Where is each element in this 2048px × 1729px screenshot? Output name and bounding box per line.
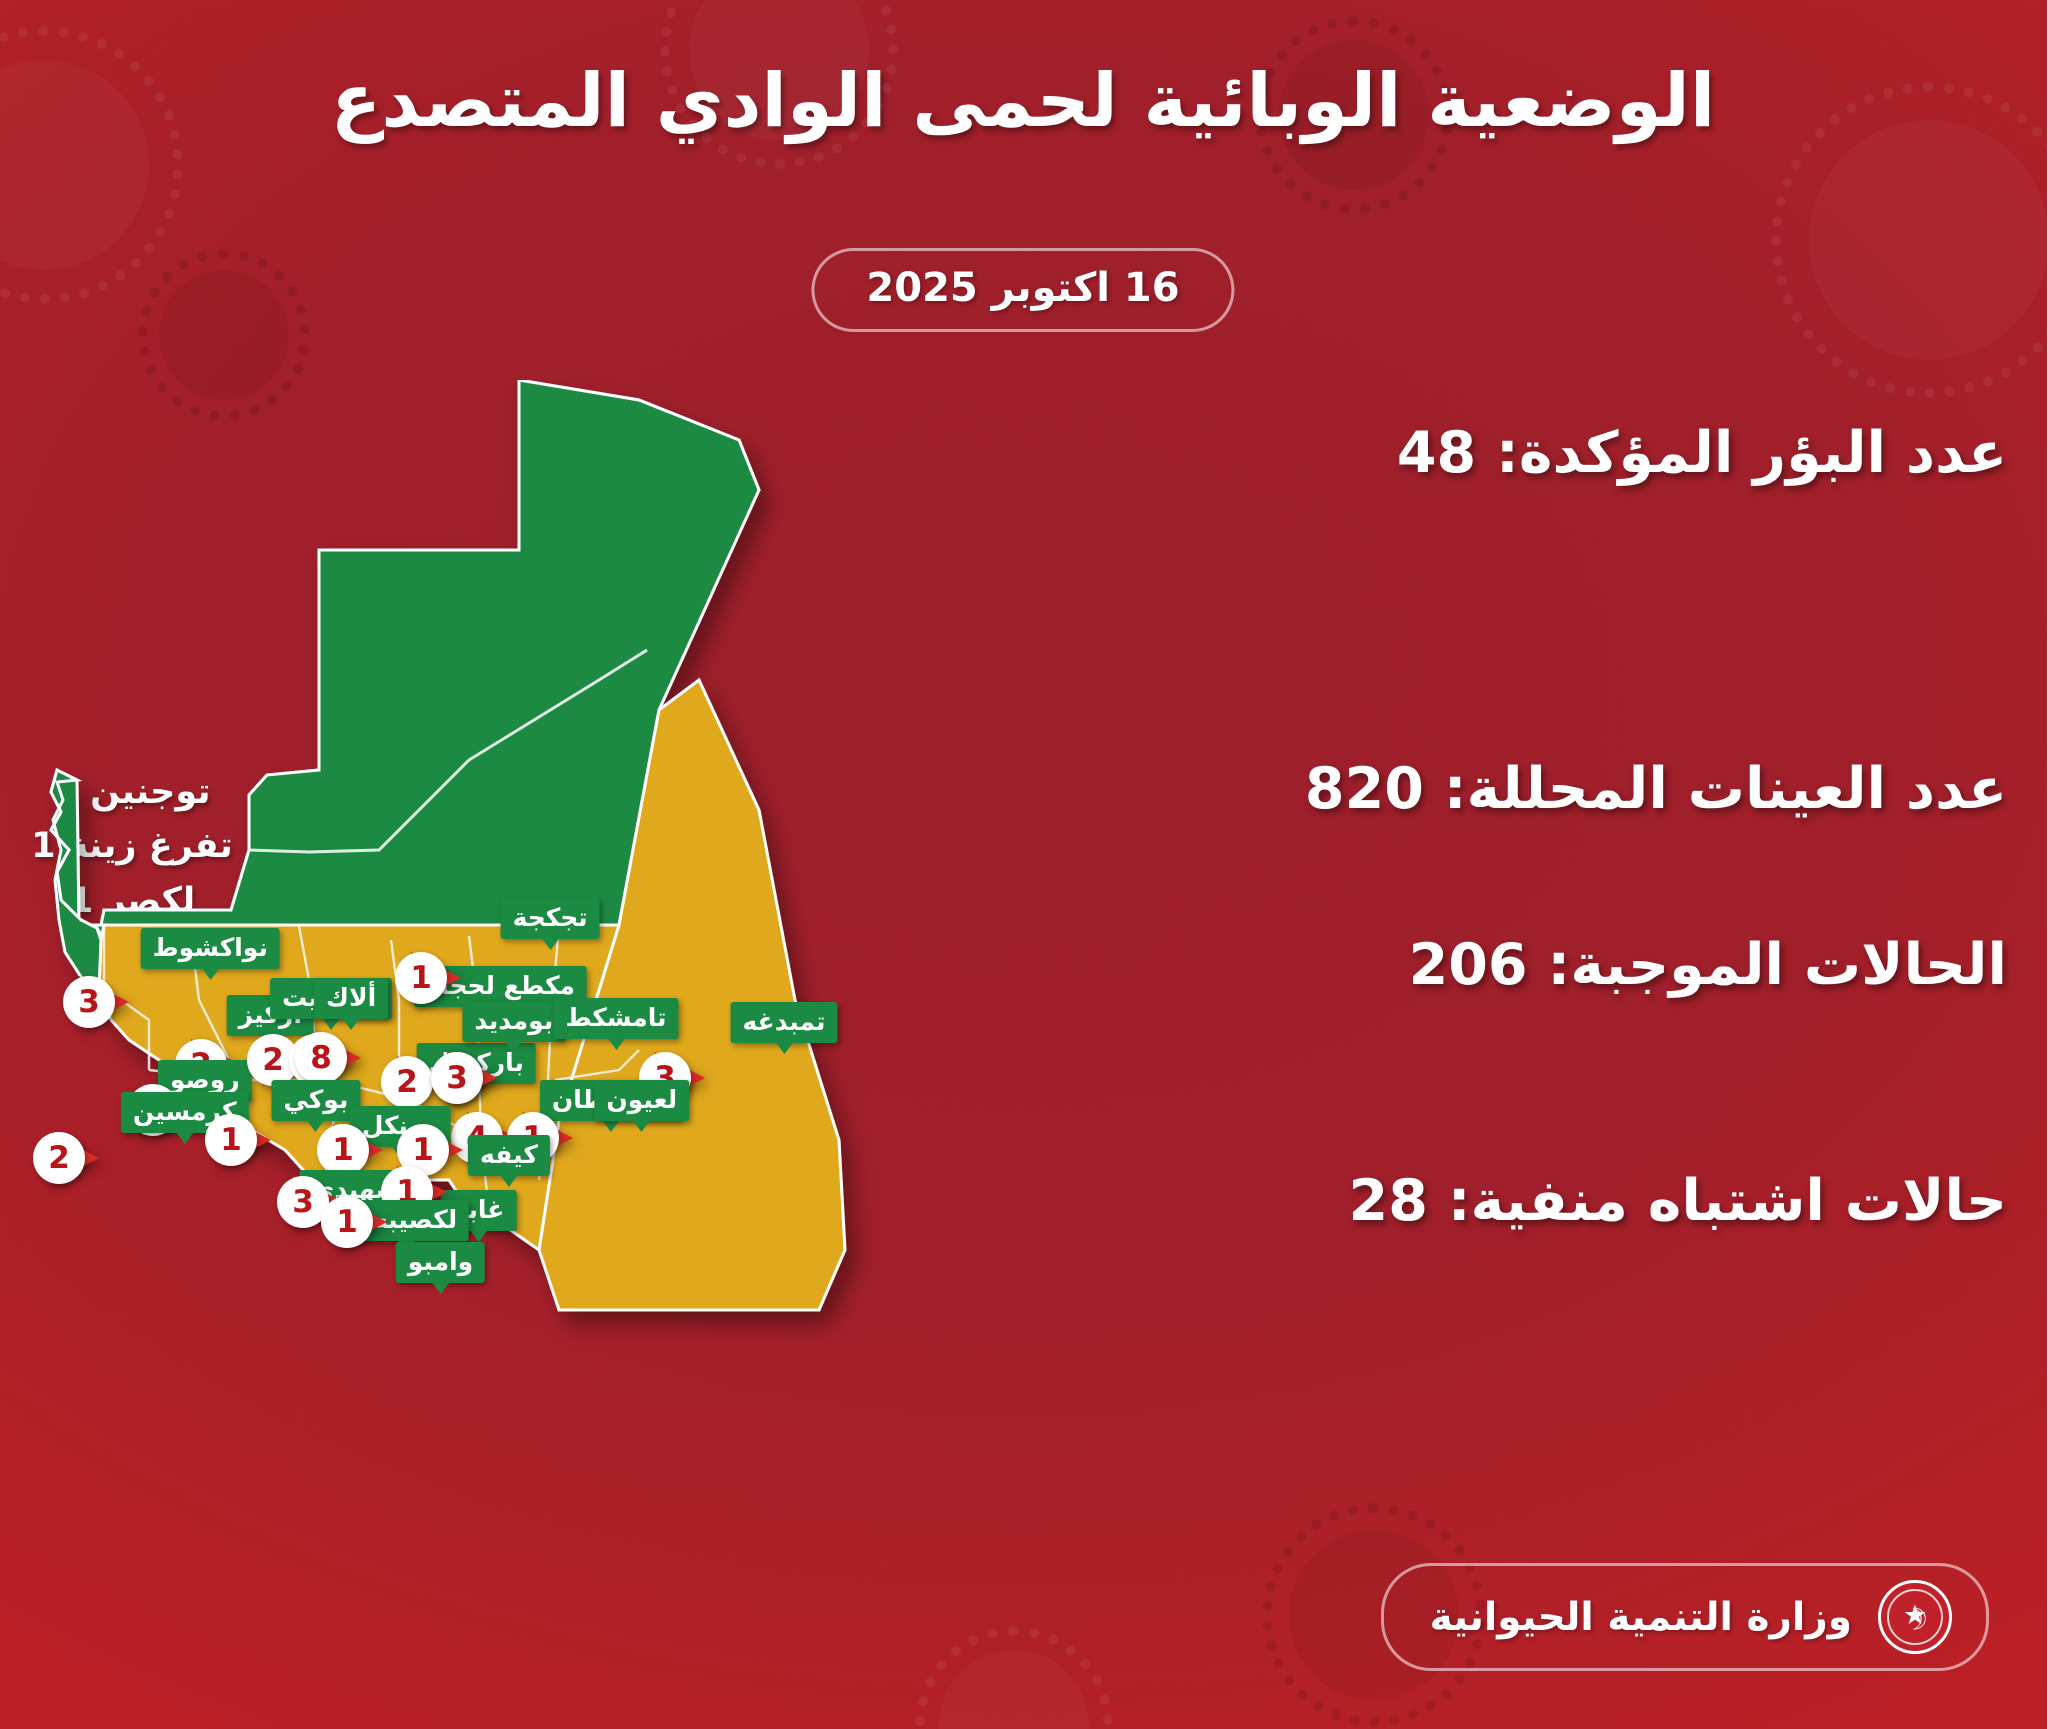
marker-count: 1 <box>322 1196 374 1248</box>
ministry-name: وزارة التنمية الحيوانية <box>1431 1595 1853 1640</box>
marker-count: 1 <box>206 1114 258 1166</box>
ministry-footer: ★ ☽ وزارة التنمية الحيوانية <box>1382 1563 1990 1671</box>
map-label[interactable]: بومديد <box>463 1001 566 1042</box>
map-marker[interactable]: 1 <box>322 1192 398 1252</box>
stat-samples-analyzed: عدد العينات المحللة: 820 <box>1048 756 2008 822</box>
marker-count: 2 <box>34 1132 86 1184</box>
ministry-emblem-icon: ★ ☽ <box>1879 1580 1953 1654</box>
marker-count: 3 <box>64 976 116 1028</box>
map-label[interactable]: ألاك <box>315 978 389 1019</box>
virus-decoration-4 <box>1810 120 2048 360</box>
statistics-panel: عدد البؤر المؤكدة: 48 عدد العينات المحلل… <box>1048 420 2008 1234</box>
date-badge: 16 اكتوبر 2025 <box>812 248 1235 332</box>
map-marker[interactable]: 1 <box>396 948 472 1008</box>
map-label[interactable]: لعيون <box>595 1080 690 1121</box>
marker-count: 2 <box>382 1056 434 1108</box>
map-marker[interactable]: 1 <box>206 1110 282 1170</box>
virus-decoration-6 <box>940 1650 1090 1729</box>
map-marker[interactable]: 3 <box>432 1048 508 1108</box>
map-marker[interactable]: 3 <box>64 972 140 1032</box>
crescent-icon: ☽ <box>1903 1606 1930 1636</box>
map-label[interactable]: كيفه <box>469 1135 551 1176</box>
stat-confirmed-foci: عدد البؤر المؤكدة: 48 <box>1048 420 2008 486</box>
map-label[interactable]: تمبدغه <box>732 1002 839 1043</box>
map-marker[interactable]: 8 <box>296 1028 372 1088</box>
mauritania-map: نواكشوط3اركيز2روصو2كرمسين2بوتلميت2ألاك8م… <box>0 380 1120 1630</box>
marker-count: 1 <box>396 952 448 1004</box>
map-label[interactable]: تجكجة <box>502 898 601 939</box>
stat-positive-cases: الحالات الموجبة: 206 <box>1048 932 2008 998</box>
page-title: الوضعية الوبائية لحمى الوادي المتصدع <box>0 58 2048 144</box>
stat-negative-cases: حالات اشتباه منفية: 28 <box>1048 1168 2008 1234</box>
marker-count: 3 <box>432 1052 484 1104</box>
map-label[interactable]: وامبو <box>397 1242 486 1283</box>
map-marker[interactable]: 2 <box>34 1128 110 1188</box>
marker-count: 1 <box>318 1124 370 1176</box>
map-label[interactable]: نواكشوط <box>142 928 281 969</box>
marker-count: 8 <box>296 1032 348 1084</box>
map-label[interactable]: بوكي <box>272 1080 361 1121</box>
map-label[interactable]: تامشكط <box>555 998 680 1039</box>
